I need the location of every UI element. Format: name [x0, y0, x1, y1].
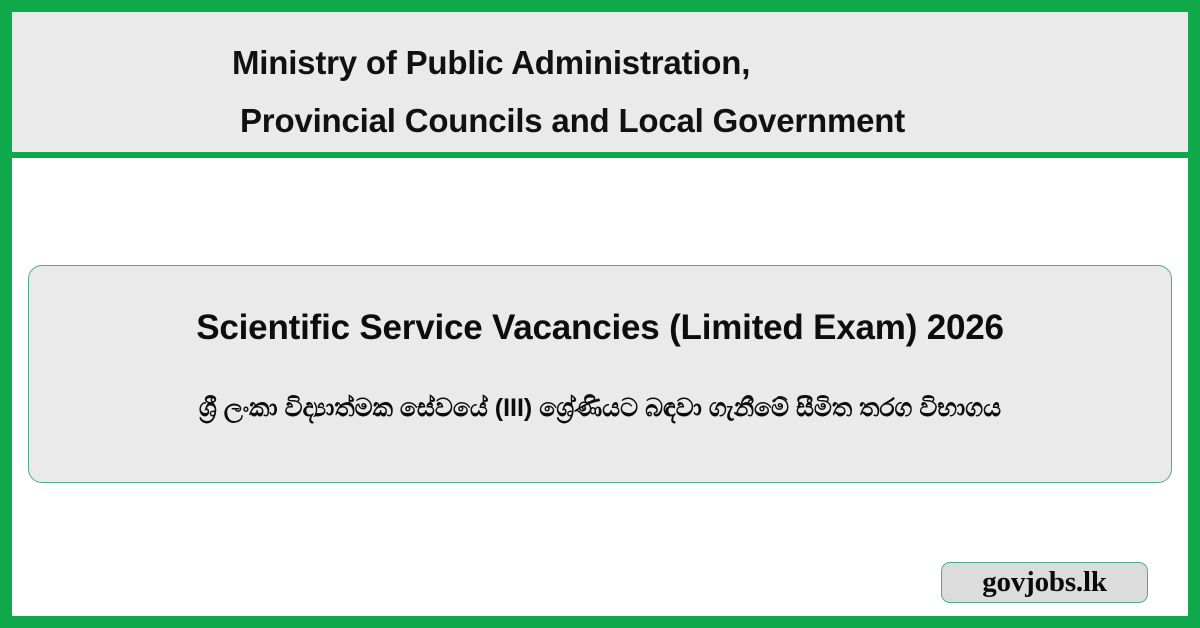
brand-badge[interactable]: govjobs.lk [941, 562, 1148, 603]
ministry-title-line-1: Ministry of Public Administration, [232, 34, 1132, 92]
vacancy-title-english: Scientific Service Vacancies (Limited Ex… [29, 308, 1171, 348]
vacancy-title-sinhala: ශ්‍රී ලංකා විද්‍යාත්මක සේවයේ (III) ශ්‍රේ… [29, 394, 1171, 423]
ministry-title-line-2: Provincial Councils and Local Government [232, 92, 1132, 150]
ministry-title: Ministry of Public Administration, Provi… [232, 34, 1132, 150]
poster-frame: Ministry of Public Administration, Provi… [0, 0, 1200, 628]
brand-badge-label: govjobs.lk [982, 568, 1107, 597]
ministry-header-band: Ministry of Public Administration, Provi… [12, 12, 1188, 158]
vacancy-info-card: Scientific Service Vacancies (Limited Ex… [28, 265, 1172, 483]
